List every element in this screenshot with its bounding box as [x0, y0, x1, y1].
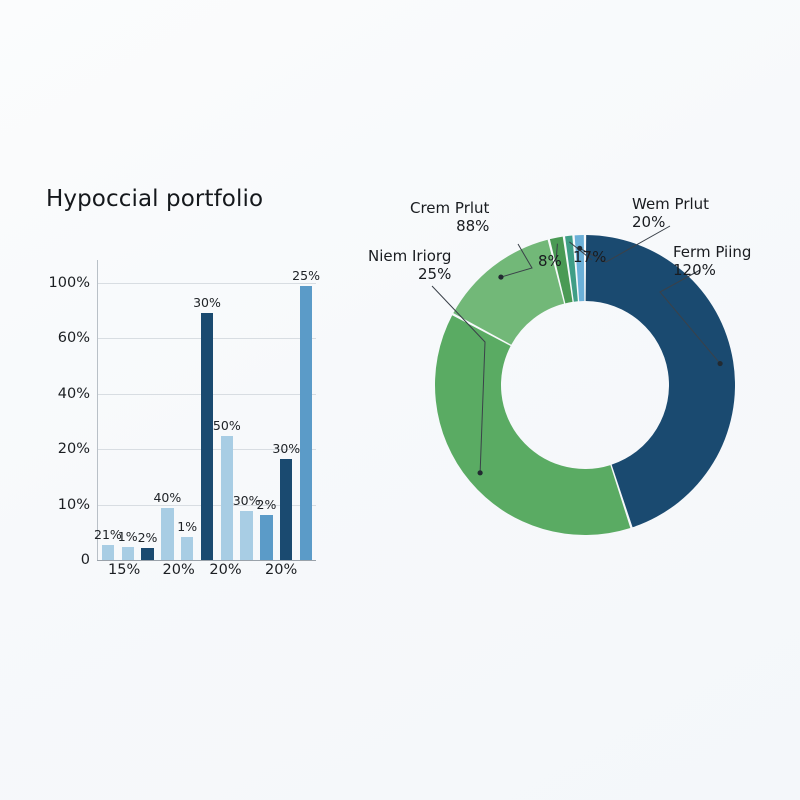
pie-label-crem-prlut: Crem Prlut 88%	[410, 200, 489, 235]
y-axis-tick-label: 20%	[58, 441, 90, 457]
pie-label-name: Ferm Piing	[673, 243, 751, 261]
donut-chart-panel: Niem Iriorg 25% Crem Prlut 88% Wem Prlut…	[370, 170, 800, 600]
pie-label-value: 20%	[632, 214, 709, 232]
pie-small-label-8: 8%	[538, 252, 562, 270]
bar-chart-title: Hypoccial portfolio	[46, 186, 263, 212]
bar	[221, 436, 233, 560]
pie-label-value: 25%	[368, 266, 451, 284]
pie-small-label-17: 17%	[573, 248, 606, 266]
bar-value-label: 25%	[292, 268, 320, 283]
screenshot-canvas: Hypoccial portfolio 010%20%40%60%100% 21…	[0, 0, 800, 800]
bar	[141, 548, 153, 560]
pie-label-value: 120%	[673, 262, 751, 280]
bar-chart-plot-area: 010%20%40%60%100% 21%1%2%40%1%30%50%30%2…	[98, 260, 316, 560]
bar	[260, 515, 272, 560]
y-axis-tick-label: 10%	[58, 497, 90, 513]
donut-slice	[435, 315, 630, 535]
y-axis-tick-label: 100%	[49, 275, 90, 291]
bar	[181, 537, 193, 560]
bar	[161, 508, 173, 560]
bar-value-label: 50%	[213, 418, 241, 433]
x-axis-tick-label: 15%	[108, 562, 140, 578]
bar	[122, 547, 134, 560]
bar	[102, 545, 114, 560]
pie-label-ferm-piing: Ferm Piing 120%	[673, 244, 751, 279]
leader-dot	[718, 361, 723, 366]
pie-label-name: Crem Prlut	[410, 199, 489, 217]
bar	[201, 313, 213, 560]
x-axis-tick-label: 20%	[209, 562, 241, 578]
pie-label-name: Niem Iriorg	[368, 247, 451, 265]
y-axis-tick-label: 60%	[58, 330, 90, 346]
bar-value-label: 40%	[153, 490, 181, 505]
bar	[300, 286, 312, 561]
bar-value-label: 30%	[193, 295, 221, 310]
y-axis-tick-label: 0	[81, 552, 90, 568]
pie-label-value: 88%	[410, 218, 489, 236]
bar-value-label: 2%	[138, 530, 158, 545]
bar-chart-panel: Hypoccial portfolio 010%20%40%60%100% 21…	[0, 160, 380, 620]
y-axis-tick-label: 40%	[58, 386, 90, 402]
bar-value-label: 1%	[118, 529, 138, 544]
donut-slices-group	[435, 235, 735, 535]
bar-value-label: 30%	[272, 441, 300, 456]
bar-value-label: 2%	[257, 497, 277, 512]
bar	[240, 511, 252, 560]
leader-dot	[498, 274, 503, 279]
pie-label-name: Wem Prlut	[632, 195, 709, 213]
bar-value-label: 1%	[177, 519, 197, 534]
y-axis-line	[97, 260, 98, 561]
bar	[280, 459, 292, 560]
x-axis-tick-label: 20%	[265, 562, 297, 578]
x-axis-tick-label: 20%	[163, 562, 195, 578]
pie-label-wem-prlut: Wem Prlut 20%	[632, 196, 709, 231]
pie-label-niem-iriorg: Niem Iriorg 25%	[368, 248, 451, 283]
leader-dot	[478, 470, 483, 475]
gridline	[98, 283, 316, 284]
